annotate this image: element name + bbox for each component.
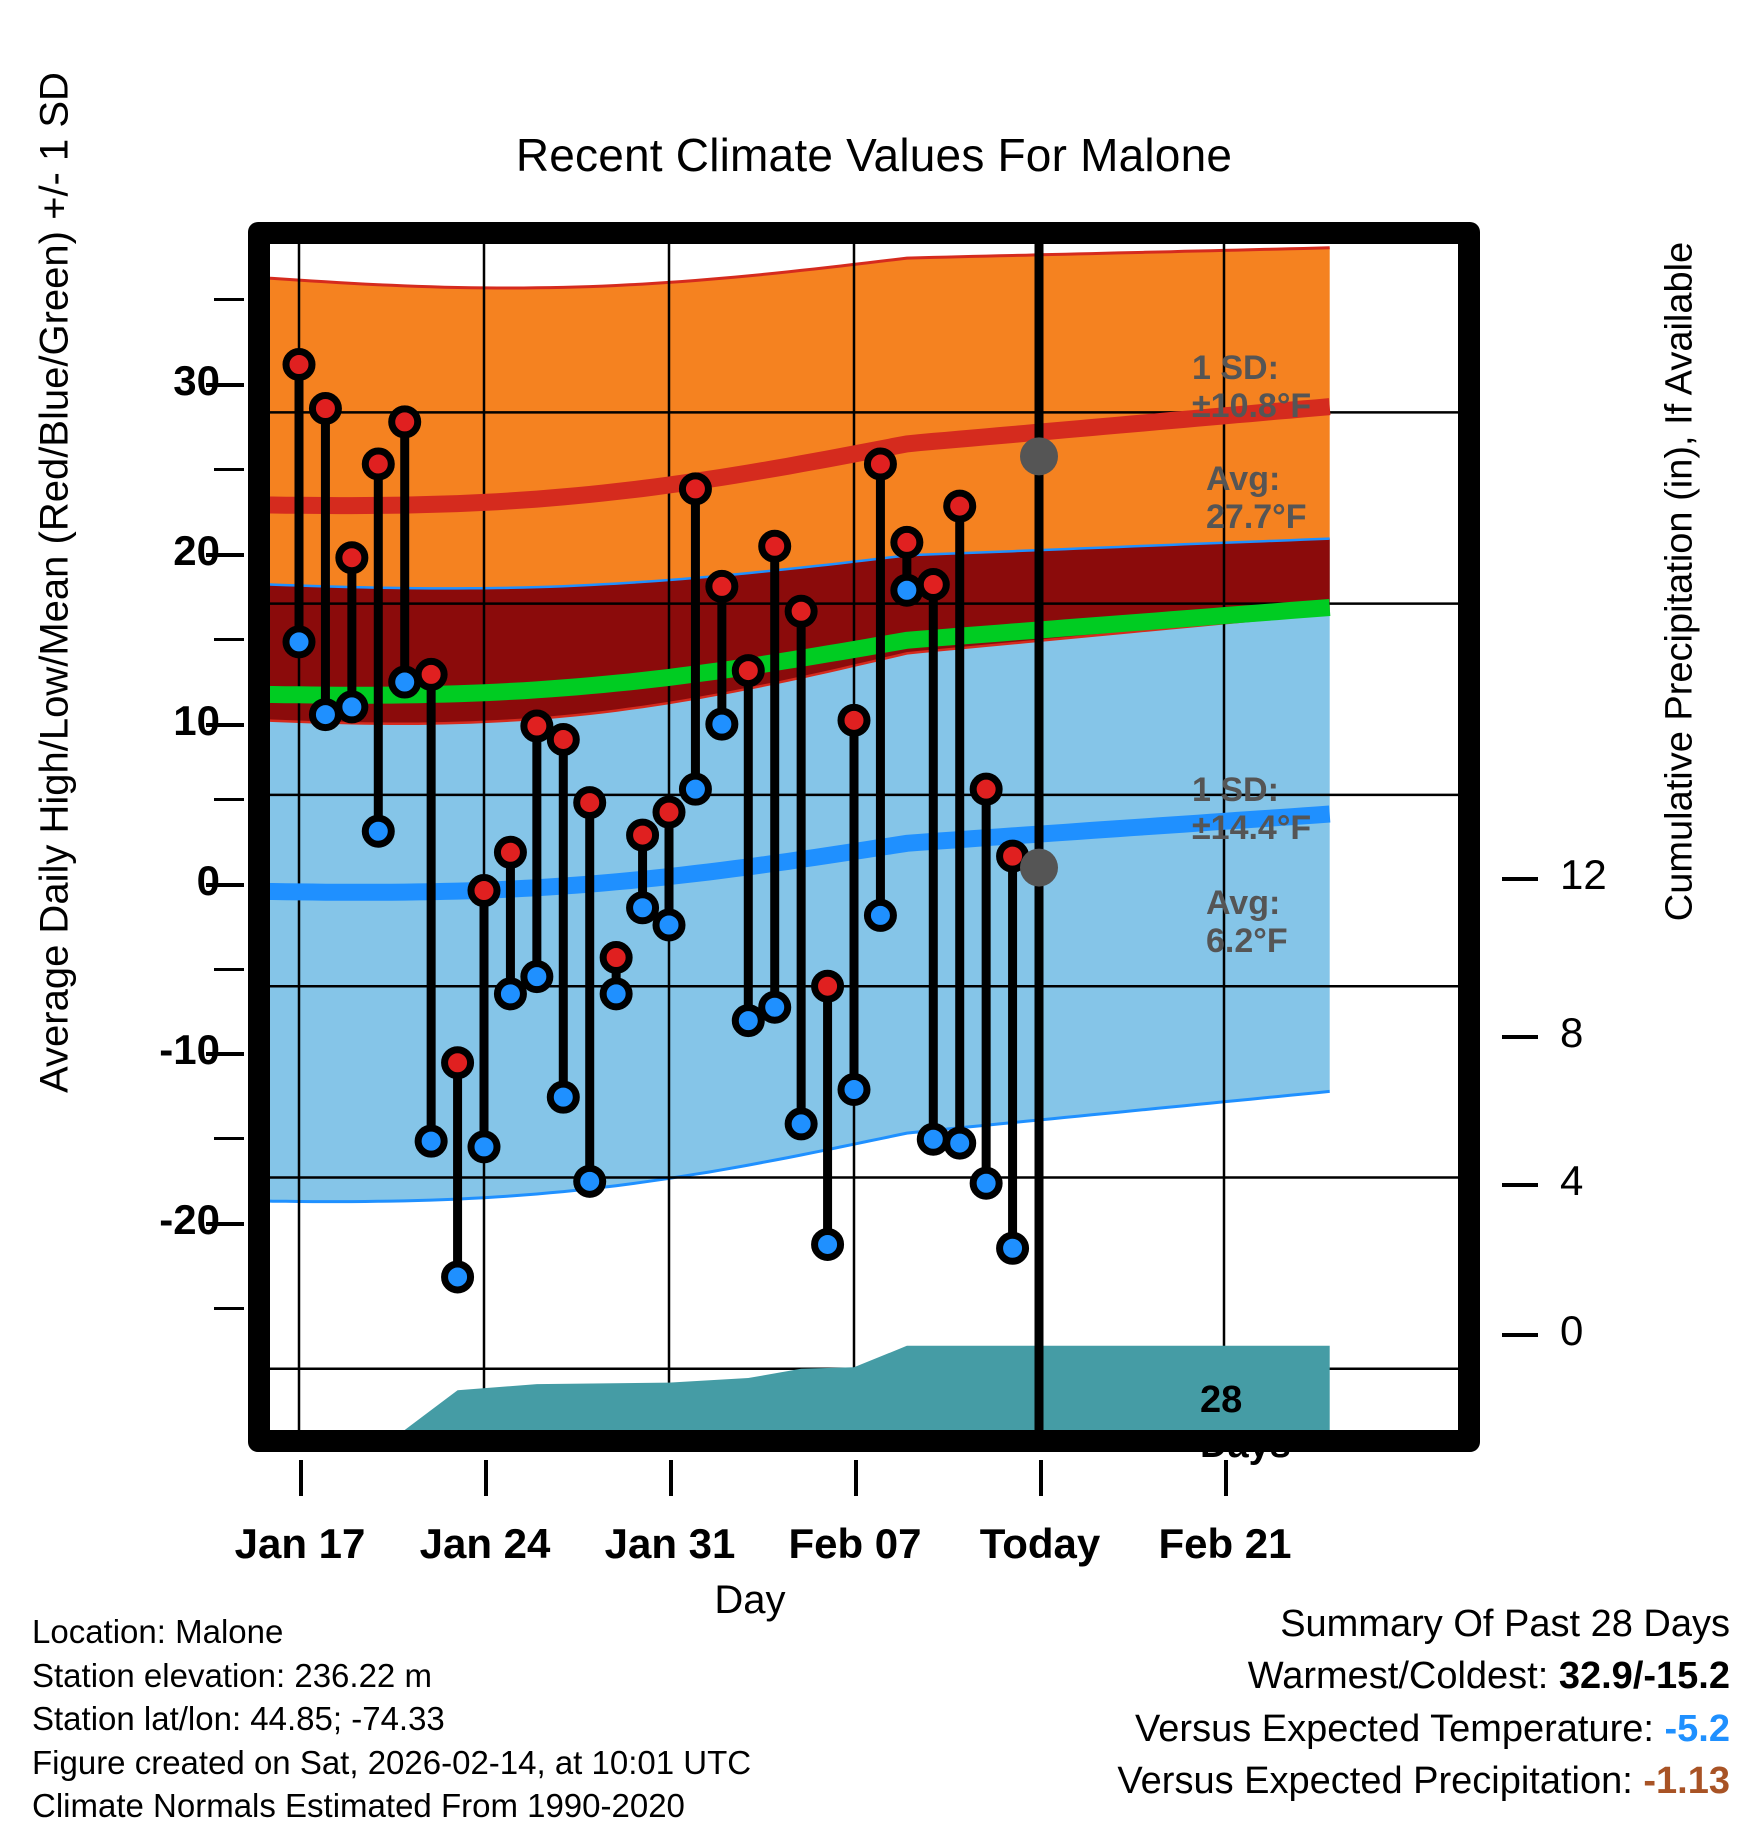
low-temp-dot: [550, 1084, 576, 1110]
y-tick-left-4: -10: [40, 1026, 220, 1074]
low-temp-dot: [762, 994, 788, 1020]
y-tickmark-left-5: [206, 1222, 244, 1226]
y-tick-right-2: 4: [1560, 1157, 1583, 1205]
x-tickmark-0: [299, 1460, 303, 1496]
high-temp-dot: [920, 571, 946, 597]
summary-vs-expected-precipitation-value: -1.13: [1643, 1760, 1730, 1802]
footer-created: Figure created on Sat, 2026-02-14, at 10…: [32, 1741, 751, 1785]
y-tick-right-3: 0: [1560, 1307, 1583, 1355]
low-temp-dot: [735, 1008, 761, 1034]
high-temp-dot: [682, 476, 708, 502]
high-temp-dot: [550, 726, 576, 752]
high-temp-dot: [894, 529, 920, 555]
low-temp-dot: [630, 895, 656, 921]
y-tickmark-right-2: [1502, 1183, 1538, 1187]
x-tick-5: Feb 21: [1115, 1520, 1335, 1568]
high-temp-dot: [339, 545, 365, 571]
high-temp-dot: [286, 352, 312, 378]
y-tick-left-0: 30: [40, 357, 220, 405]
low-temp-dot: [867, 902, 893, 928]
y-tickmark-right-3: [1502, 1333, 1538, 1337]
high-temp-dot: [656, 799, 682, 825]
low-temp-dot: [339, 694, 365, 720]
footer-left: Location: Malone Station elevation: 236.…: [32, 1610, 751, 1828]
high-temp-dot: [709, 573, 735, 599]
high-temp-dot: [471, 878, 497, 904]
y-tick-left-3: 0: [40, 857, 220, 905]
y-tickmark-left-minor-6: [214, 1307, 244, 1310]
y-tickmark-left-minor-2: [214, 638, 244, 641]
low-temp-dot: [392, 669, 418, 695]
y-tickmark-right-1: [1502, 1035, 1538, 1039]
summary-warmest-coldest: Warmest/Coldest: 32.9/-15.2: [1117, 1650, 1730, 1702]
low-temp-dot: [894, 577, 920, 603]
y-tick-right-0: 12: [1560, 851, 1607, 899]
x-tickmark-1: [484, 1460, 488, 1496]
low-temp-dot: [445, 1264, 471, 1290]
high-temp-dot: [762, 533, 788, 559]
y-tick-left-2: 10: [40, 697, 220, 745]
high-temp-dot: [947, 493, 973, 519]
low-temp-dot: [603, 981, 629, 1007]
y-axis-right-label: Cumulative Precipitation (in), If Availa…: [1659, 0, 1702, 1182]
footer-latlon: Station lat/lon: 44.85; -74.33: [32, 1697, 751, 1741]
precipitation-area: [405, 1346, 1330, 1430]
footer-location: Location: Malone: [32, 1610, 751, 1654]
high-temp-dot: [788, 598, 814, 624]
low-temp-dot: [524, 964, 550, 990]
low-temp-dot: [577, 1168, 603, 1194]
low-temp-dot: [841, 1077, 867, 1103]
summary-vs-expected-temperature-value: -5.2: [1665, 1708, 1730, 1750]
y-tick-right-1: 8: [1560, 1009, 1583, 1057]
annotation-low-sd: 1 SD: ±14.4°F: [1192, 771, 1311, 847]
today-normal-low-marker: [1020, 849, 1058, 887]
low-temp-dot: [682, 776, 708, 802]
footer-normals: Climate Normals Estimated From 1990-2020: [32, 1784, 751, 1828]
high-temp-dot: [445, 1050, 471, 1076]
y-tickmark-left-minor-1: [214, 468, 244, 471]
x-tickmark-4: [1039, 1460, 1043, 1496]
summary-vs-expected-precipitation-label: Versus Expected Precipitation:: [1117, 1760, 1643, 1802]
low-temp-dot: [471, 1134, 497, 1160]
high-temp-dot: [365, 451, 391, 477]
low-temp-dot: [920, 1126, 946, 1152]
annotation-high-sd: 1 SD: ±10.8°F: [1192, 349, 1311, 425]
y-tickmark-left-4: [206, 1052, 244, 1056]
low-temp-dot: [365, 818, 391, 844]
annotation-days-count: 28 Days: [1200, 1378, 1291, 1468]
high-temp-dot: [312, 396, 338, 422]
annotation-low-avg: Avg: 6.2°F: [1206, 884, 1288, 960]
high-temp-dot: [497, 839, 523, 865]
summary-vs-expected-temperature: Versus Expected Temperature: -5.2: [1117, 1703, 1730, 1755]
high-temp-dot: [841, 707, 867, 733]
y-tickmark-left-minor-4: [214, 968, 244, 971]
low-temp-dot: [418, 1128, 444, 1154]
y-tickmark-left-1: [206, 553, 244, 557]
page-title: Recent Climate Values For Malone: [0, 128, 1748, 182]
y-tickmark-left-minor-0: [214, 298, 244, 301]
high-temp-dot: [867, 451, 893, 477]
y-tickmark-right-0: [1502, 877, 1538, 881]
low-temp-dot: [286, 629, 312, 655]
y-tickmark-left-0: [206, 383, 244, 387]
high-temp-dot: [815, 973, 841, 999]
summary-warmest-coldest-label: Warmest/Coldest:: [1248, 1655, 1559, 1697]
footer-elevation: Station elevation: 236.22 m: [32, 1654, 751, 1698]
low-temp-dot: [947, 1130, 973, 1156]
low-temp-dot: [656, 912, 682, 938]
y-tick-left-5: -20: [40, 1196, 220, 1244]
x-tickmark-2: [669, 1460, 673, 1496]
y-tickmark-left-minor-5: [214, 1137, 244, 1140]
high-temp-dot: [603, 945, 629, 971]
high-temp-dot: [524, 713, 550, 739]
y-tickmark-left-minor-3: [214, 798, 244, 801]
low-temp-dot: [312, 702, 338, 728]
y-tickmark-left-3: [206, 883, 244, 887]
low-temp-dot: [788, 1111, 814, 1137]
low-temp-dot: [815, 1231, 841, 1257]
y-tick-left-1: 20: [40, 527, 220, 575]
footer-right: Summary Of Past 28 Days Warmest/Coldest:…: [1117, 1598, 1730, 1808]
high-temp-dot: [577, 790, 603, 816]
y-tickmark-left-2: [206, 723, 244, 727]
summary-vs-expected-temperature-label: Versus Expected Temperature:: [1135, 1708, 1664, 1750]
high-temp-dot: [630, 822, 656, 848]
low-temp-dot: [1000, 1235, 1026, 1261]
summary-warmest-coldest-value: 32.9/-15.2: [1559, 1655, 1730, 1697]
high-temp-dot: [392, 409, 418, 435]
high-temp-dot: [418, 661, 444, 687]
low-temp-dot: [497, 981, 523, 1007]
high-temp-dot: [973, 776, 999, 802]
x-tickmark-3: [854, 1460, 858, 1496]
today-normal-high-marker: [1020, 437, 1058, 475]
high-temp-dot: [735, 658, 761, 684]
low-temp-dot: [973, 1170, 999, 1196]
annotation-high-avg: Avg: 27.7°F: [1206, 460, 1307, 536]
y-axis-left-label: Average Daily High/Low/Mean (Red/Blue/Gr…: [33, 0, 78, 1183]
summary-vs-expected-precipitation: Versus Expected Precipitation: -1.13: [1117, 1755, 1730, 1807]
summary-heading: Summary Of Past 28 Days: [1117, 1598, 1730, 1650]
low-temp-dot: [709, 711, 735, 737]
